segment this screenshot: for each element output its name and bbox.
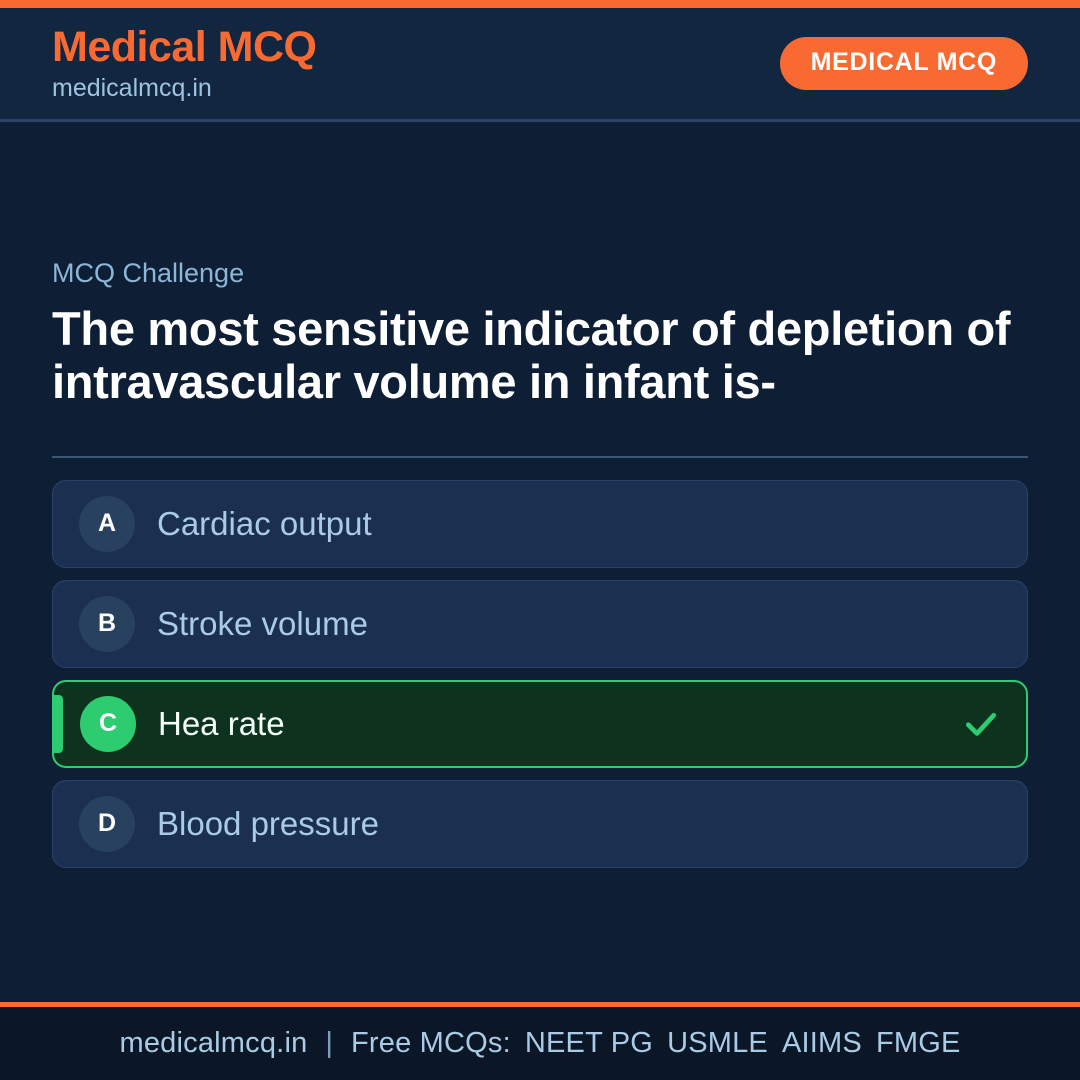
option-letter-badge: A	[79, 496, 135, 552]
header-badge: MEDICAL MCQ	[780, 37, 1028, 90]
section-eyebrow: MCQ Challenge	[52, 259, 1028, 289]
question-divider	[52, 456, 1028, 458]
option-a[interactable]: A Cardiac output	[52, 480, 1028, 568]
brand-title: Medical MCQ	[52, 25, 317, 70]
brand-logo: Medical MCQ medicalmcq.in	[52, 25, 317, 103]
footer-separator: |	[325, 1029, 333, 1058]
header: Medical MCQ medicalmcq.in MEDICAL MCQ	[0, 8, 1080, 122]
option-label: Hea rate	[158, 706, 950, 742]
top-accent-bar	[0, 0, 1080, 8]
option-label: Blood pressure	[157, 806, 1001, 842]
mcq-card: Medical MCQ medicalmcq.in MEDICAL MCQ MC…	[0, 0, 1080, 1080]
check-icon	[962, 705, 1000, 743]
footer-exams-label: Free MCQs:	[351, 1029, 511, 1058]
footer-exam-tag: NEET PG	[525, 1027, 653, 1059]
option-letter-badge: D	[79, 796, 135, 852]
option-c[interactable]: C Hea rate	[52, 680, 1028, 768]
option-label: Stroke volume	[157, 606, 1001, 642]
option-d[interactable]: D Blood pressure	[52, 780, 1028, 868]
footer-exam-tag: FMGE	[876, 1027, 961, 1059]
footer: medicalmcq.in | Free MCQs: NEET PGUSMLEA…	[0, 1002, 1080, 1080]
option-accent-bar	[54, 695, 63, 753]
footer-site[interactable]: medicalmcq.in	[119, 1029, 307, 1058]
option-b[interactable]: B Stroke volume	[52, 580, 1028, 668]
option-label: Cardiac output	[157, 506, 1001, 542]
footer-exam-tag: USMLE	[667, 1027, 768, 1059]
option-letter-badge: C	[80, 696, 136, 752]
question-text: The most sensitive indicator of depletio…	[52, 302, 1028, 408]
footer-exam-list: NEET PGUSMLEAIIMSFMGE	[511, 1029, 961, 1058]
main-content: MCQ Challenge The most sensitive indicat…	[0, 122, 1080, 1002]
options-list: A Cardiac output B Stroke volume C Hea r	[52, 480, 1028, 868]
footer-exam-tag: AIIMS	[782, 1027, 862, 1059]
brand-subtitle: medicalmcq.in	[52, 75, 317, 103]
option-letter-badge: B	[79, 596, 135, 652]
